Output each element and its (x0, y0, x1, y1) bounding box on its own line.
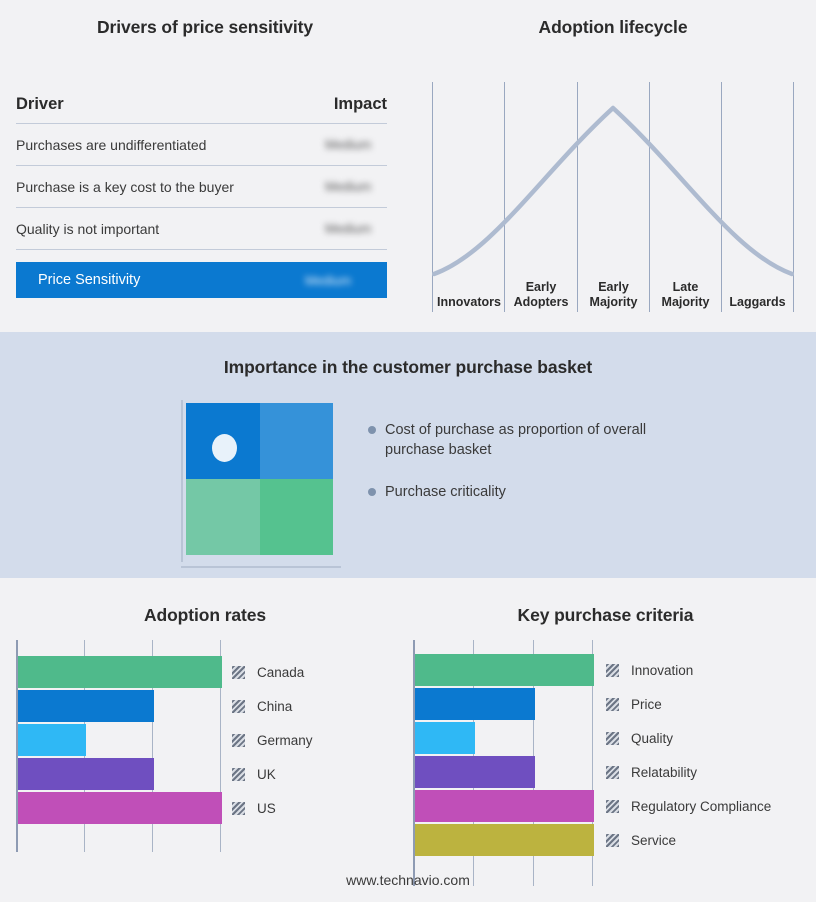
legend-label: Price (631, 697, 662, 712)
legend-item-germany[interactable]: Germany (232, 724, 313, 756)
lifecycle-stage-labels: Innovators Early Adopters Early Majority… (432, 268, 794, 312)
bar-china[interactable] (18, 690, 154, 722)
hatched-swatch-icon (606, 698, 619, 711)
hatched-swatch-icon (232, 734, 245, 747)
driver-label: Quality is not important (16, 221, 159, 237)
legend-item-quality[interactable]: Quality (606, 722, 771, 754)
adoption-rates-plot (16, 640, 221, 852)
hatched-swatch-icon (232, 768, 245, 781)
drivers-title: Drivers of price sensitivity (0, 17, 410, 38)
key-purchase-criteria-panel: Key purchase criteria Innovation Price Q… (395, 578, 816, 902)
legend-label: Cost of purchase as proportion of overal… (385, 420, 653, 460)
adoption-rates-bars (18, 640, 223, 826)
legend-label: Germany (257, 733, 313, 748)
adoption-lifecycle-title: Adoption lifecycle (410, 17, 816, 38)
bar-innovation[interactable] (415, 654, 594, 686)
lifecycle-stage-innovators: Innovators (434, 295, 504, 310)
legend-label: Quality (631, 731, 673, 746)
legend-item: Purchase criticality (368, 482, 698, 502)
hatched-swatch-icon (606, 766, 619, 779)
legend-item: Cost of purchase as proportion of overal… (368, 420, 698, 460)
matrix-position-marker (212, 434, 237, 462)
price-sensitivity-row[interactable]: Price Sensitivity Medium (16, 262, 387, 298)
legend-label: Canada (257, 665, 304, 680)
legend-label: US (257, 801, 276, 816)
adoption-rates-panel: Adoption rates Canada China Germany U (0, 578, 410, 902)
importance-matrix (181, 400, 341, 568)
footer-url[interactable]: www.technavio.com (0, 872, 816, 888)
impact-value: Medium (325, 179, 387, 194)
hatched-swatch-icon (606, 834, 619, 847)
table-row[interactable]: Quality is not important Medium (16, 208, 387, 250)
legend-item-uk[interactable]: UK (232, 758, 313, 790)
matrix-quadrant-bottom-left[interactable] (186, 479, 260, 555)
hatched-swatch-icon (606, 732, 619, 745)
legend-label: Innovation (631, 663, 693, 678)
bar-quality[interactable] (415, 722, 475, 754)
column-header-driver: Driver (16, 95, 64, 114)
bar-service[interactable] (415, 824, 594, 856)
adoption-rates-title: Adoption rates (0, 605, 410, 626)
key-purchase-criteria-title: Key purchase criteria (395, 605, 816, 626)
hatched-swatch-icon (606, 664, 619, 677)
legend-label: UK (257, 767, 276, 782)
matrix-quadrants (186, 403, 333, 555)
matrix-y-axis (181, 400, 183, 562)
impact-value: Medium (325, 221, 387, 236)
table-row[interactable]: Purchase is a key cost to the buyer Medi… (16, 166, 387, 208)
drivers-table: Driver Impact Purchases are undifferenti… (16, 86, 387, 298)
bullet-icon (368, 488, 376, 496)
price-sensitivity-impact: Medium (305, 273, 367, 288)
legend-label: Service (631, 833, 676, 848)
matrix-quadrant-top-right[interactable] (260, 403, 334, 479)
importance-panel: Importance in the customer purchase bask… (0, 332, 816, 578)
legend-label: Purchase criticality (385, 482, 506, 502)
bar-canada[interactable] (18, 656, 222, 688)
adoption-rates-legend: Canada China Germany UK US (232, 656, 313, 826)
legend-item-regulatory-compliance[interactable]: Regulatory Compliance (606, 790, 771, 822)
column-header-impact: Impact (334, 95, 387, 114)
legend-item-innovation[interactable]: Innovation (606, 654, 771, 686)
legend-label: Regulatory Compliance (631, 799, 771, 814)
lifecycle-stage-early-majority: Early Majority (579, 280, 648, 310)
adoption-lifecycle-chart: Innovators Early Adopters Early Majority… (432, 78, 794, 312)
lifecycle-stage-late-majority: Late Majority (651, 280, 720, 310)
driver-label: Purchases are undifferentiated (16, 137, 206, 153)
hatched-swatch-icon (232, 700, 245, 713)
key-purchase-criteria-plot (413, 640, 593, 886)
bullet-icon (368, 426, 376, 434)
lifecycle-stage-laggards: Laggards (723, 295, 792, 310)
price-sensitivity-label: Price Sensitivity (38, 272, 140, 288)
importance-title: Importance in the customer purchase bask… (0, 357, 816, 378)
bar-relatability[interactable] (415, 756, 535, 788)
bar-us[interactable] (18, 792, 222, 824)
legend-label: China (257, 699, 292, 714)
legend-label: Relatability (631, 765, 697, 780)
hatched-swatch-icon (606, 800, 619, 813)
drivers-panel: Drivers of price sensitivity Driver Impa… (0, 0, 410, 332)
table-header-row: Driver Impact (16, 86, 387, 124)
bar-uk[interactable] (18, 758, 154, 790)
table-row[interactable]: Purchases are undifferentiated Medium (16, 124, 387, 166)
bar-regulatory-compliance[interactable] (415, 790, 594, 822)
legend-item-us[interactable]: US (232, 792, 313, 824)
matrix-x-axis (181, 566, 341, 568)
legend-item-service[interactable]: Service (606, 824, 771, 856)
legend-item-price[interactable]: Price (606, 688, 771, 720)
driver-label: Purchase is a key cost to the buyer (16, 179, 234, 195)
hatched-swatch-icon (232, 802, 245, 815)
key-purchase-criteria-bars (415, 640, 595, 858)
bar-germany[interactable] (18, 724, 86, 756)
lifecycle-stage-early-adopters: Early Adopters (506, 280, 576, 310)
legend-item-canada[interactable]: Canada (232, 656, 313, 688)
matrix-quadrant-bottom-right[interactable] (260, 479, 334, 555)
adoption-lifecycle-panel: Adoption lifecycle Innovators Early Adop… (410, 0, 816, 332)
key-purchase-criteria-legend: Innovation Price Quality Relatability Re… (606, 654, 771, 858)
importance-legend: Cost of purchase as proportion of overal… (368, 420, 698, 524)
impact-value: Medium (325, 137, 387, 152)
bar-price[interactable] (415, 688, 535, 720)
hatched-swatch-icon (232, 666, 245, 679)
legend-item-china[interactable]: China (232, 690, 313, 722)
legend-item-relatability[interactable]: Relatability (606, 756, 771, 788)
